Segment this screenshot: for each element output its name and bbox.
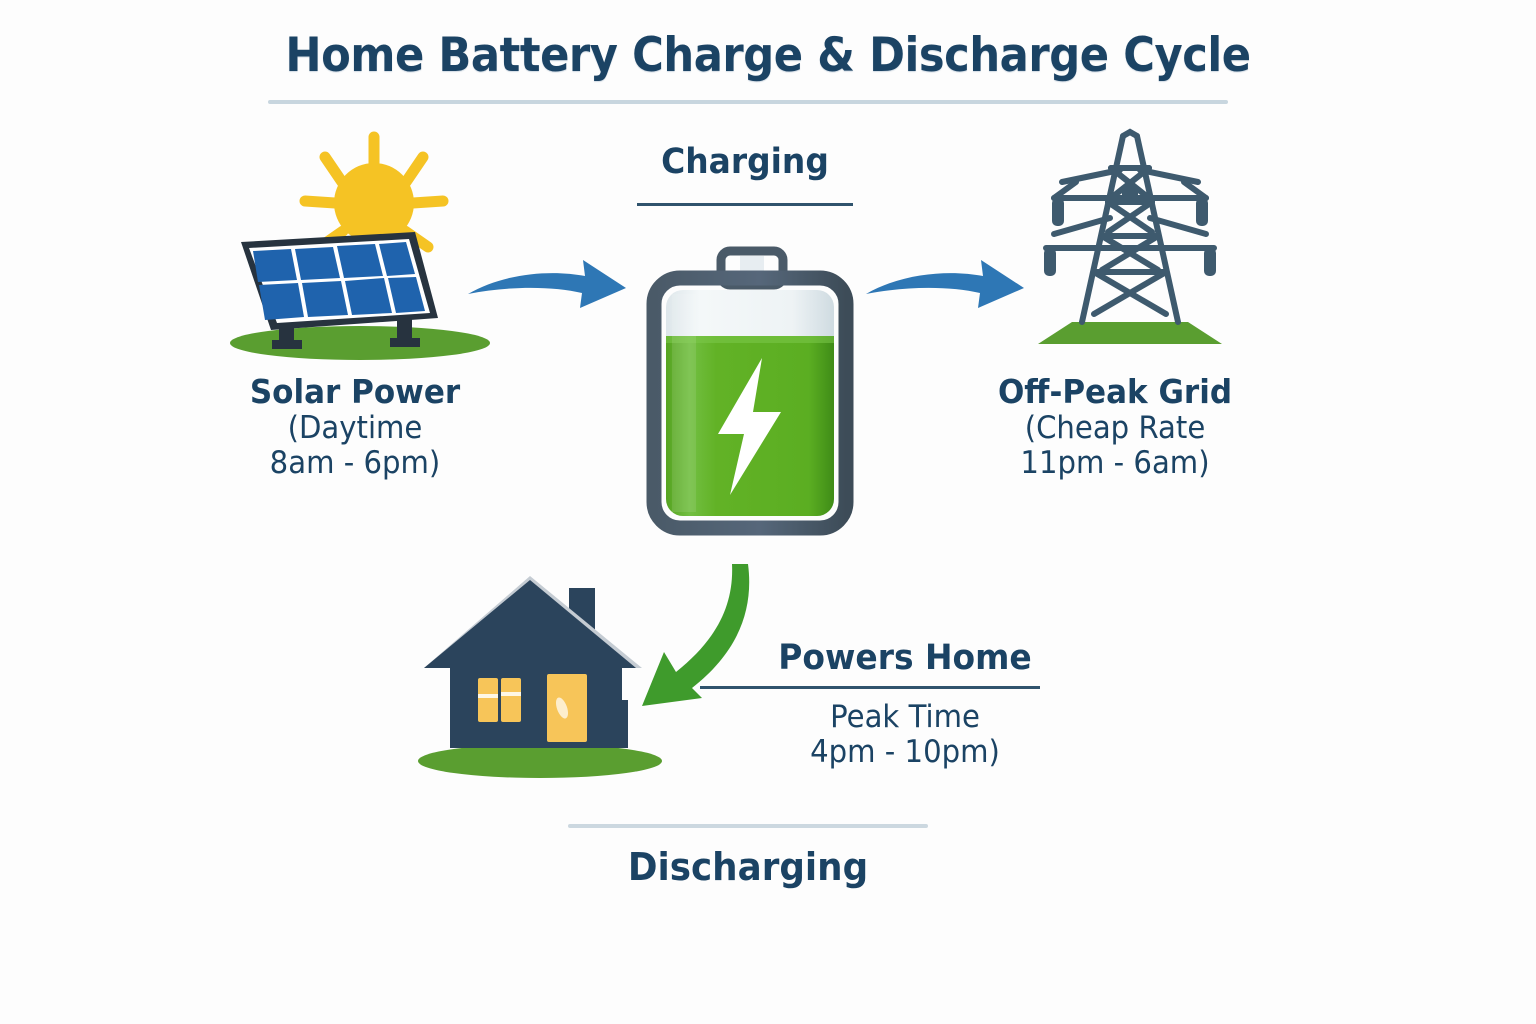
page-title: Home Battery Charge & Discharge Cycle: [61, 28, 1474, 83]
stage-charging-label: Charging: [604, 142, 886, 182]
solar-title: Solar Power: [214, 374, 496, 411]
transmission-tower-icon: [1010, 122, 1250, 354]
stage-discharging-label: Discharging: [607, 845, 889, 889]
grid-title: Off-Peak Grid: [974, 374, 1256, 411]
stage-powers-home-label: Powers Home: [764, 638, 1046, 678]
stage-powers-home-rule: [700, 686, 1040, 689]
grid-line3: 11pm - 6am): [974, 446, 1256, 481]
house-icon: [412, 558, 672, 790]
powers-home-line3: 4pm - 10pm): [764, 735, 1046, 770]
grid-label-block: Off-Peak Grid (Cheap Rate 11pm - 6am): [965, 374, 1265, 480]
stage-discharging-rule: [568, 824, 928, 828]
arrow-solar-to-battery: [462, 248, 642, 328]
infographic-canvas: Home Battery Charge & Discharge Cycle: [0, 0, 1536, 1024]
title-divider: [268, 100, 1228, 104]
battery-charging-icon: [640, 248, 860, 548]
solar-panel-with-sun-icon: [225, 125, 495, 365]
solar-label-block: Solar Power (Daytime 8am - 6pm): [205, 374, 505, 480]
powers-home-sublabel-block: Peak Time 4pm - 10pm): [755, 700, 1055, 769]
stage-charging-rule: [637, 203, 853, 206]
powers-home-line2: Peak Time: [764, 700, 1046, 735]
grid-line2: (Cheap Rate: [974, 411, 1256, 446]
solar-line3: 8am - 6pm): [214, 446, 496, 481]
solar-line2: (Daytime: [214, 411, 496, 446]
